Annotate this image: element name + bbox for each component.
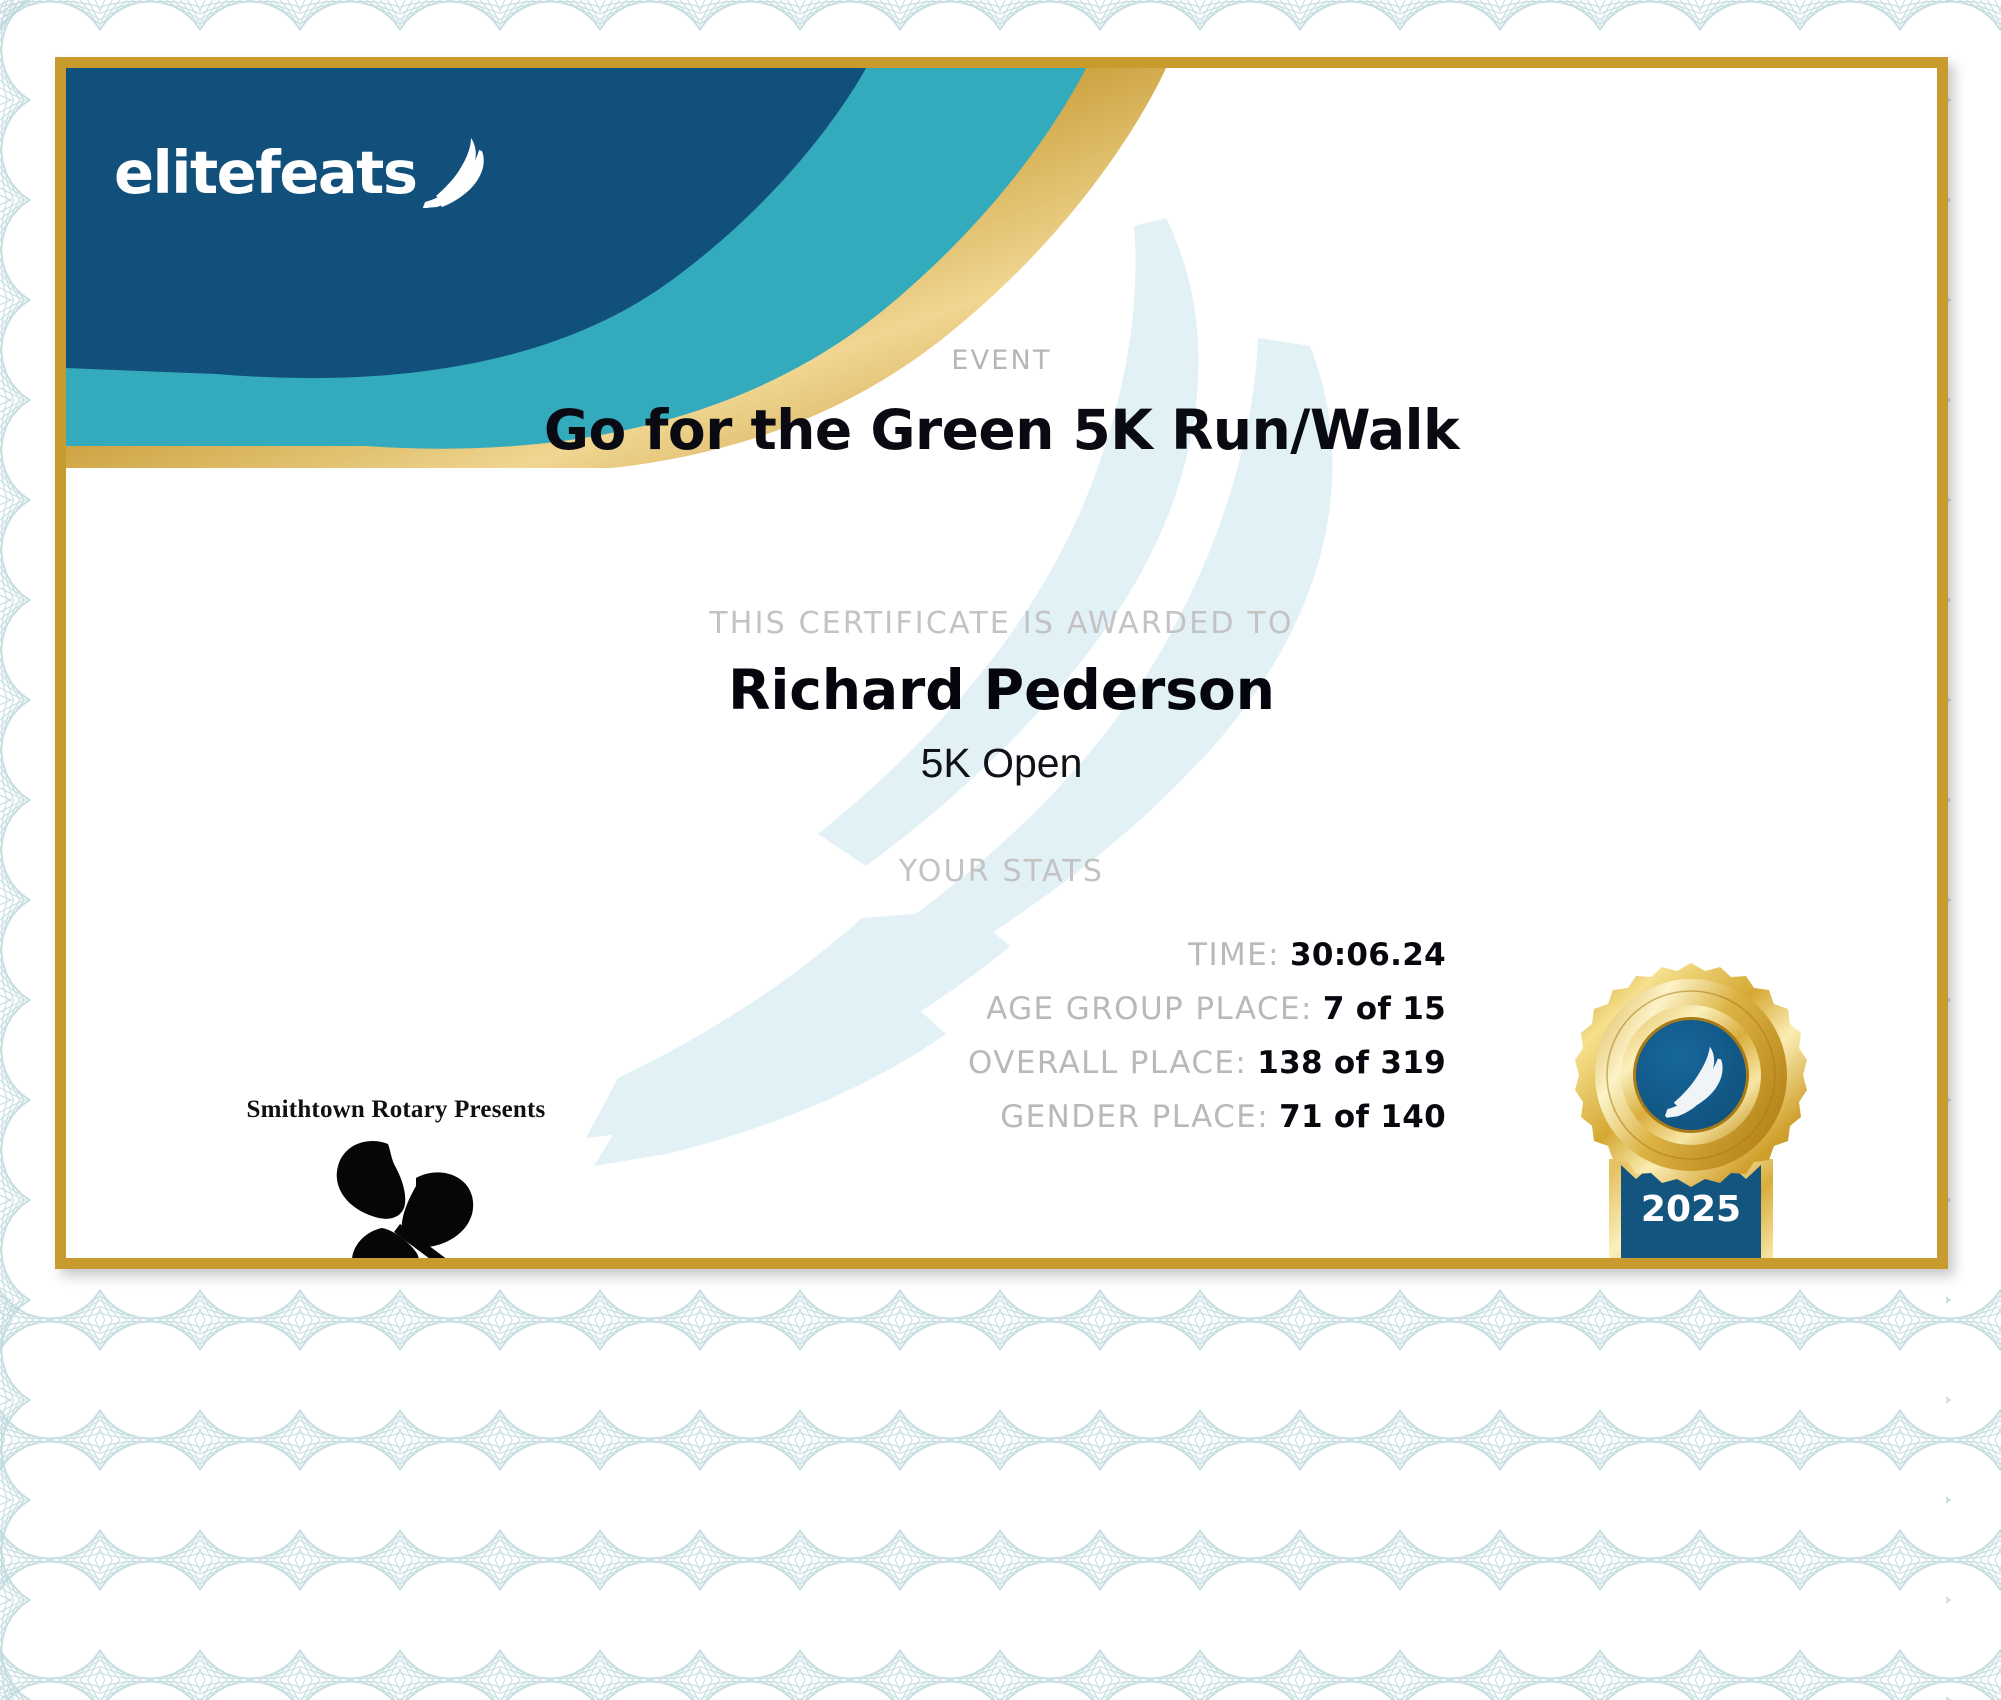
stat-row: TIME: 30:06.24 (66, 928, 1446, 982)
badge-year: 2025 (1641, 1189, 1741, 1230)
stat-row: OVERALL PLACE: 138 of 319 (66, 1036, 1446, 1090)
event-name: Go for the Green 5K Run/Walk (66, 398, 1937, 462)
recipient-name: Richard Pederson (66, 658, 1937, 722)
event-label: EVENT (66, 345, 1937, 376)
shamrock-icon (296, 1132, 496, 1258)
stat-key: AGE GROUP PLACE: (986, 991, 1313, 1027)
stat-key: GENDER PLACE: (1000, 1099, 1269, 1135)
division-name: 5K Open (66, 740, 1937, 787)
stat-row: AGE GROUP PLACE: 7 of 15 (66, 982, 1446, 1036)
certificate-page: elitefeats EVENT Go for the Green 5K Run… (0, 0, 2001, 1700)
stat-key: TIME: (1188, 937, 1280, 973)
finisher-badge: 2025 (1541, 963, 1841, 1258)
rotary-presents-line: Smithtown Rotary Presents (221, 1096, 571, 1124)
gold-medallion-icon: 2025 (1541, 963, 1841, 1258)
your-stats-label: YOUR STATS (66, 854, 1937, 889)
stat-value: 30:06.24 (1290, 937, 1446, 973)
stat-value: 7 of 15 (1323, 991, 1446, 1027)
certificate-sheet: elitefeats EVENT Go for the Green 5K Run… (55, 57, 1948, 1269)
stat-key: OVERALL PLACE: (968, 1045, 1247, 1081)
stat-value: 71 of 140 (1279, 1099, 1446, 1135)
stat-value: 138 of 319 (1257, 1045, 1446, 1081)
shamrock-graphic (221, 1132, 571, 1258)
awarded-to-label: THIS CERTIFICATE IS AWARDED TO (66, 606, 1937, 641)
event-logo: Smithtown Rotary Presents “GO FOR THE GR… (221, 1096, 571, 1258)
certificate-content: EVENT Go for the Green 5K Run/Walk THIS … (66, 68, 1937, 1258)
